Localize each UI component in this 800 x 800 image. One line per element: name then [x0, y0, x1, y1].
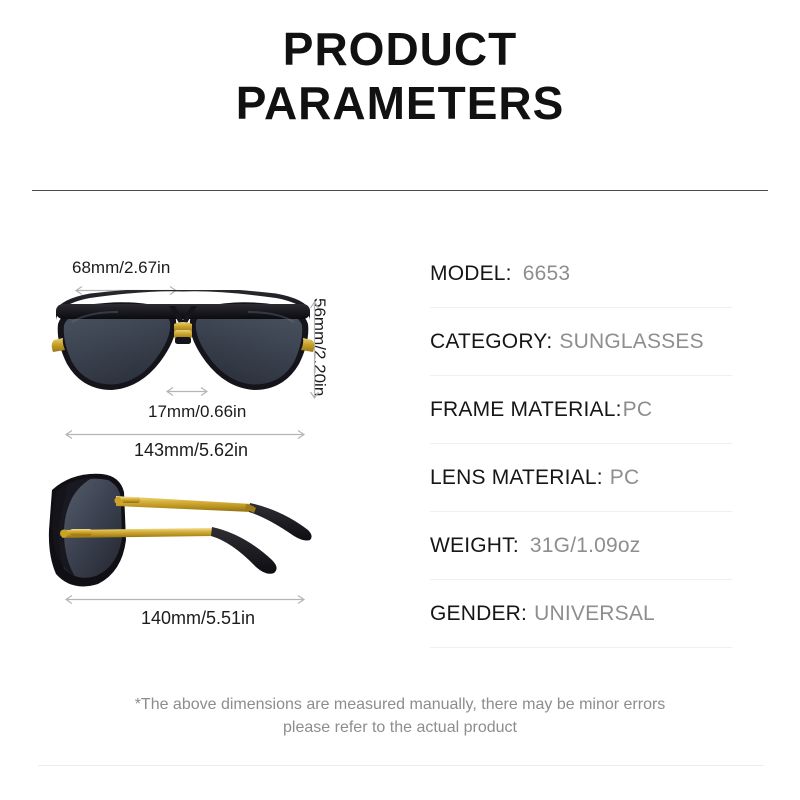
dimension-arrow-bridge-width	[163, 386, 211, 397]
front-view-group: 68mm/2.67in 56mm/2.20in	[0, 230, 400, 470]
spec-row-gender: GENDER: UNIVERSAL	[430, 580, 732, 648]
dimension-arrow-total-width	[62, 429, 308, 440]
spec-row-lens-material: LENS MATERIAL: PC	[430, 444, 732, 512]
spec-label-gender: GENDER:	[430, 602, 527, 626]
sunglasses-side-view-image	[46, 468, 326, 596]
spec-label-frame-material: FRAME MATERIAL:	[430, 398, 622, 422]
disclaimer-line-2: please refer to the actual product	[0, 717, 800, 740]
spec-label-model: MODEL:	[430, 262, 512, 286]
dimension-arrow-temple-length	[62, 594, 308, 605]
dimension-label-bridge-width: 17mm/0.66in	[148, 402, 246, 422]
header-divider	[32, 190, 768, 191]
spec-value-frame-material: PC	[623, 398, 653, 422]
product-dimension-panel: 68mm/2.67in 56mm/2.20in	[0, 230, 400, 670]
page-title-line-1: PRODUCT	[0, 22, 800, 76]
spec-value-category: SUNGLASSES	[559, 330, 703, 354]
specification-table: MODEL: 6653 CATEGORY: SUNGLASSES FRAME M…	[430, 240, 732, 648]
spec-label-category: CATEGORY:	[430, 330, 552, 354]
spec-label-lens-material: LENS MATERIAL:	[430, 466, 603, 490]
spec-value-gender: UNIVERSAL	[534, 602, 655, 626]
spec-row-category: CATEGORY: SUNGLASSES	[430, 308, 732, 376]
footer-divider	[38, 765, 764, 766]
spec-value-model: 6653	[523, 262, 571, 286]
dimension-label-lens-width: 68mm/2.67in	[72, 258, 170, 278]
spec-label-weight: WEIGHT:	[430, 534, 519, 558]
spec-row-weight: WEIGHT: 31G/1.09oz	[430, 512, 732, 580]
spec-value-weight: 31G/1.09oz	[530, 534, 641, 558]
page-title: PRODUCT PARAMETERS	[0, 22, 800, 131]
product-parameters-page: PRODUCT PARAMETERS 68mm/2.67in 56mm/2.20…	[0, 0, 800, 800]
dimension-label-total-width: 143mm/5.62in	[134, 440, 248, 461]
spec-row-frame-material: FRAME MATERIAL: PC	[430, 376, 732, 444]
disclaimer-note: *The above dimensions are measured manua…	[0, 694, 800, 739]
dimension-label-temple-length: 140mm/5.51in	[141, 608, 255, 629]
spec-row-model: MODEL: 6653	[430, 240, 732, 308]
page-title-line-2: PARAMETERS	[0, 76, 800, 130]
disclaimer-line-1: *The above dimensions are measured manua…	[0, 694, 800, 717]
spec-value-lens-material: PC	[610, 466, 640, 490]
